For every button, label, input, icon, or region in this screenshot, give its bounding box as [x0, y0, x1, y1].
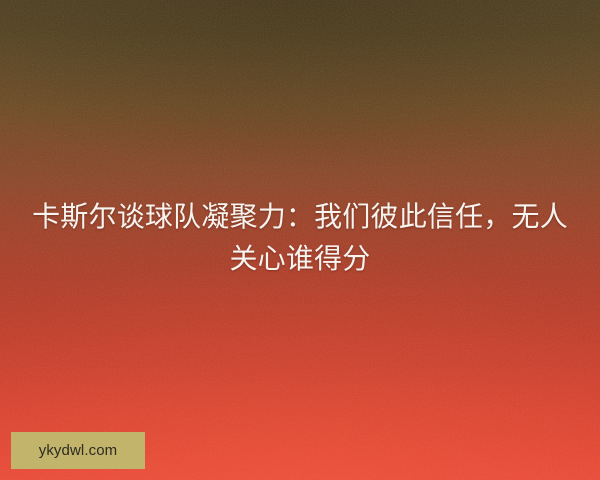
title-card: 卡斯尔谈球队凝聚力：我们彼此信任，无人关心谁得分 ykydwl.com	[0, 0, 600, 480]
watermark-label: ykydwl.com	[39, 443, 118, 458]
background-gradient	[0, 0, 600, 480]
site-watermark-badge: ykydwl.com	[11, 432, 145, 469]
